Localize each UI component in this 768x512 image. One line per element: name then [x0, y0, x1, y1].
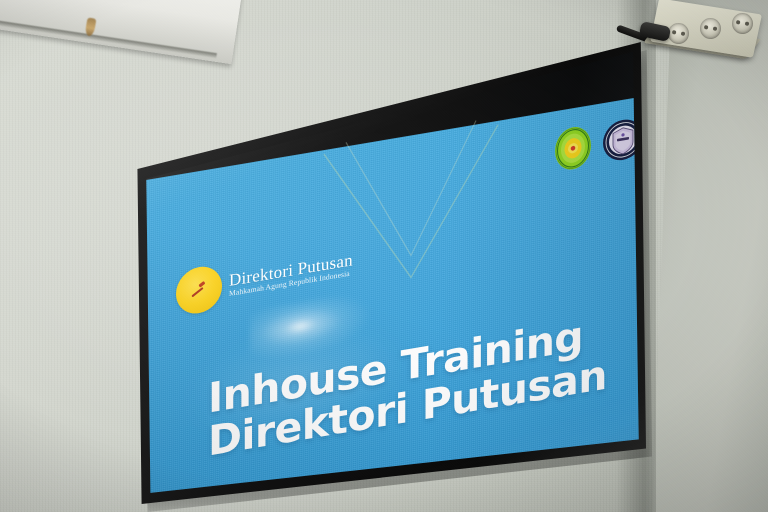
- room-photo-scene: Direktori Putusan Mahkamah Agung Republi…: [0, 0, 768, 512]
